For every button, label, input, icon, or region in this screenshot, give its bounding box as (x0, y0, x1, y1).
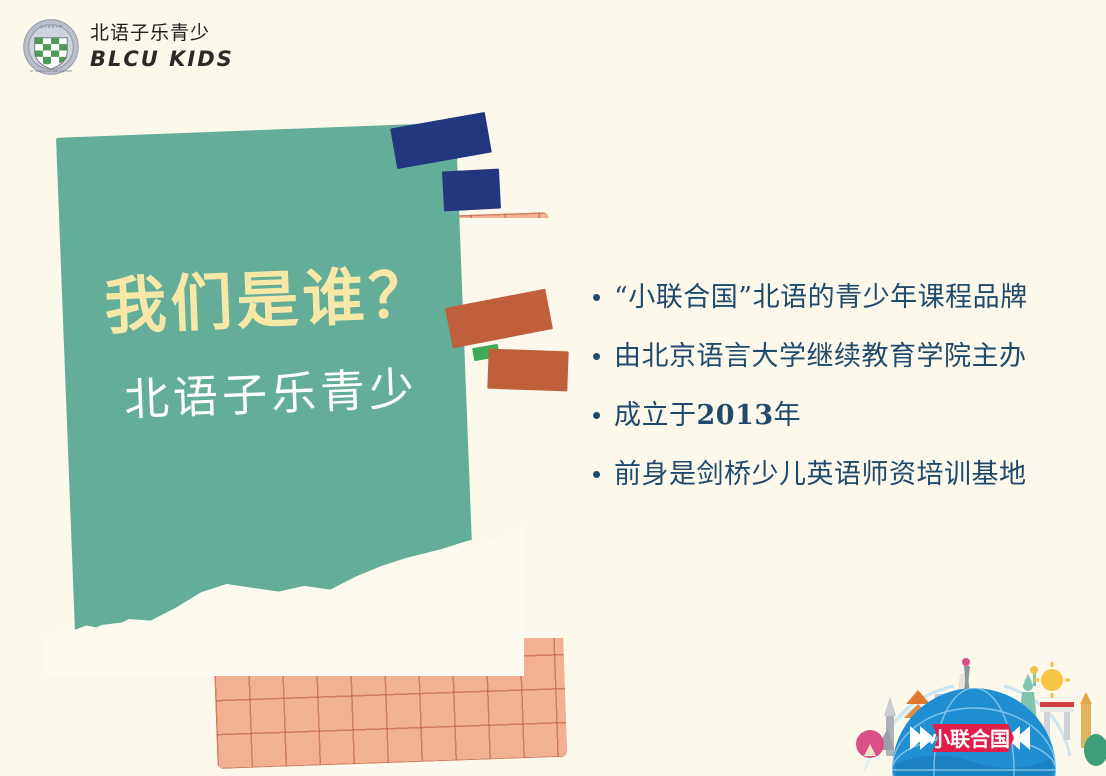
page-title: 我们是谁？ (103, 244, 436, 347)
list-item: • “小联合国”北语的青少年课程品牌 (592, 282, 1072, 313)
bullet-dot-icon: • (592, 343, 614, 369)
little-united-nations-globe: 小联合国 (834, 652, 1106, 776)
list-item: • 由北京语言大学继续教育学院主办 (592, 341, 1072, 372)
globe-banner-text: 小联合国 (930, 727, 1010, 751)
bullet-dot-icon: • (592, 461, 614, 487)
tape-blue-lower (442, 169, 501, 212)
list-item: • 成立于2013年 (592, 400, 1072, 431)
svg-text:北 京 语 言 大 学: 北 京 语 言 大 学 (40, 23, 62, 28)
svg-text:OF LANGUAGE AND CULTURE: OF LANGUAGE AND CULTURE (30, 69, 72, 73)
list-item: • 前身是剑桥少儿英语师资培训基地 (592, 459, 1072, 490)
bullet-text: 由北京语言大学继续教育学院主办 (614, 341, 1027, 372)
brand-name-en: BLCU KIDS (90, 48, 234, 70)
slide-canvas: 北 京 语 言 大 学 OF LANGUAGE AND CULTURE 北语子乐… (0, 0, 1106, 776)
tape-rust-lower (487, 349, 568, 392)
brand-name-cn: 北语子乐青少 (90, 24, 234, 44)
blcu-seal-logo: 北 京 语 言 大 学 OF LANGUAGE AND CULTURE (22, 18, 80, 76)
globe-illustration: 小联合国 (834, 652, 1106, 776)
brand-header: 北 京 语 言 大 学 OF LANGUAGE AND CULTURE 北语子乐… (22, 18, 234, 76)
bullet-text: 前身是剑桥少儿英语师资培训基地 (614, 459, 1027, 490)
hero-card-stage: 我们是谁？ 北语子乐青少 (48, 108, 578, 668)
brand-text-block: 北语子乐青少 BLCU KIDS (90, 24, 234, 70)
tape-blue-upper (390, 112, 492, 169)
bullet-dot-icon: • (592, 402, 614, 428)
page-subtitle: 北语子乐青少 (123, 352, 419, 428)
bullet-list: • “小联合国”北语的青少年课程品牌 • 由北京语言大学继续教育学院主办 • 成… (592, 282, 1072, 518)
bullet-dot-icon: • (592, 284, 614, 310)
bullet-text: “小联合国”北语的青少年课程品牌 (614, 282, 1028, 313)
bullet-text: 成立于2013年 (614, 400, 801, 431)
